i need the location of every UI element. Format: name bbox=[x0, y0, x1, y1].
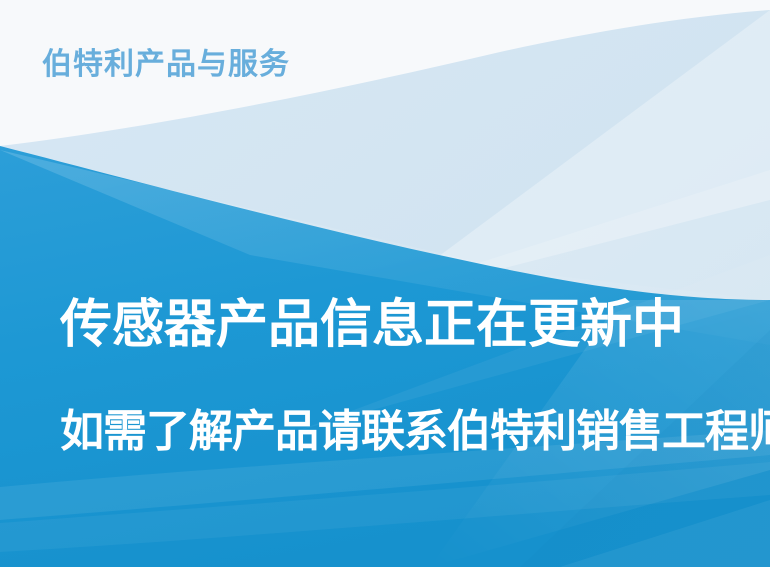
headline-secondary: 如需了解产品请联系伯特利销售工程师 bbox=[60, 407, 770, 456]
product-service-banner: 伯特利产品与服务 传感器产品信息正在更新中 如需了解产品请联系伯特利销售工程师 bbox=[0, 0, 770, 567]
banner-text-layer: 伯特利产品与服务 传感器产品信息正在更新中 如需了解产品请联系伯特利销售工程师 bbox=[0, 0, 770, 567]
section-title: 伯特利产品与服务 bbox=[42, 48, 290, 81]
headline-primary: 传感器产品信息正在更新中 bbox=[60, 296, 684, 354]
